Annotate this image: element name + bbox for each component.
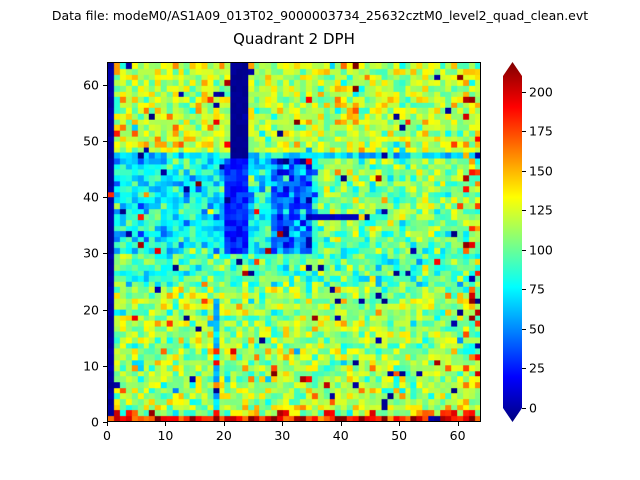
colorbar-tick-mark	[522, 250, 526, 251]
colorbar-gradient	[503, 62, 522, 422]
y-tick-mark	[103, 85, 107, 86]
x-tick-label: 20	[216, 428, 232, 443]
x-tick-mark	[341, 422, 342, 426]
colorbar-tick-label: 200	[529, 84, 553, 99]
y-tick-label: 0	[63, 415, 99, 430]
x-tick-label: 30	[274, 428, 290, 443]
colorbar-tick-label: 125	[529, 203, 553, 218]
x-tick-label: 50	[391, 428, 407, 443]
y-tick-mark	[103, 197, 107, 198]
detector-heatmap-image[interactable]	[108, 63, 480, 421]
data-file-caption: Data file: modeM0/AS1A09_013T02_90000037…	[0, 8, 640, 23]
colorbar-tick-mark	[522, 329, 526, 330]
colorbar[interactable]	[503, 62, 522, 422]
x-tick-mark	[458, 422, 459, 426]
colorbar-tick-label: 75	[529, 282, 545, 297]
x-tick-mark	[107, 422, 108, 426]
y-tick-mark	[103, 141, 107, 142]
y-tick-mark	[103, 422, 107, 423]
colorbar-tick-label: 0	[529, 401, 537, 416]
x-tick-label: 60	[450, 428, 466, 443]
figure-canvas: Data file: modeM0/AS1A09_013T02_90000037…	[0, 0, 640, 480]
colorbar-tick-mark	[522, 131, 526, 132]
y-tick-label: 60	[63, 77, 99, 92]
y-tick-mark	[103, 310, 107, 311]
x-tick-mark	[399, 422, 400, 426]
x-tick-mark	[224, 422, 225, 426]
x-tick-mark	[282, 422, 283, 426]
x-tick-label: 0	[103, 428, 111, 443]
colorbar-tick-label: 175	[529, 124, 553, 139]
colorbar-tick-mark	[522, 210, 526, 211]
heatmap-axes[interactable]	[107, 62, 481, 422]
colorbar-tick-mark	[522, 171, 526, 172]
x-tick-label: 10	[157, 428, 173, 443]
y-tick-mark	[103, 366, 107, 367]
colorbar-tick-label: 150	[529, 163, 553, 178]
y-tick-label: 30	[63, 246, 99, 261]
plot-title: Quadrant 2 DPH	[107, 30, 481, 48]
colorbar-tick-label: 100	[529, 242, 553, 257]
colorbar-tick-mark	[522, 368, 526, 369]
x-tick-mark	[165, 422, 166, 426]
colorbar-tick-mark	[522, 92, 526, 93]
colorbar-tick-label: 50	[529, 321, 545, 336]
y-tick-mark	[103, 253, 107, 254]
x-tick-label: 40	[333, 428, 349, 443]
y-tick-label: 10	[63, 358, 99, 373]
y-tick-label: 50	[63, 133, 99, 148]
y-tick-label: 20	[63, 302, 99, 317]
colorbar-tick-mark	[522, 408, 526, 409]
y-tick-label: 40	[63, 190, 99, 205]
colorbar-tick-label: 25	[529, 361, 545, 376]
colorbar-tick-mark	[522, 289, 526, 290]
